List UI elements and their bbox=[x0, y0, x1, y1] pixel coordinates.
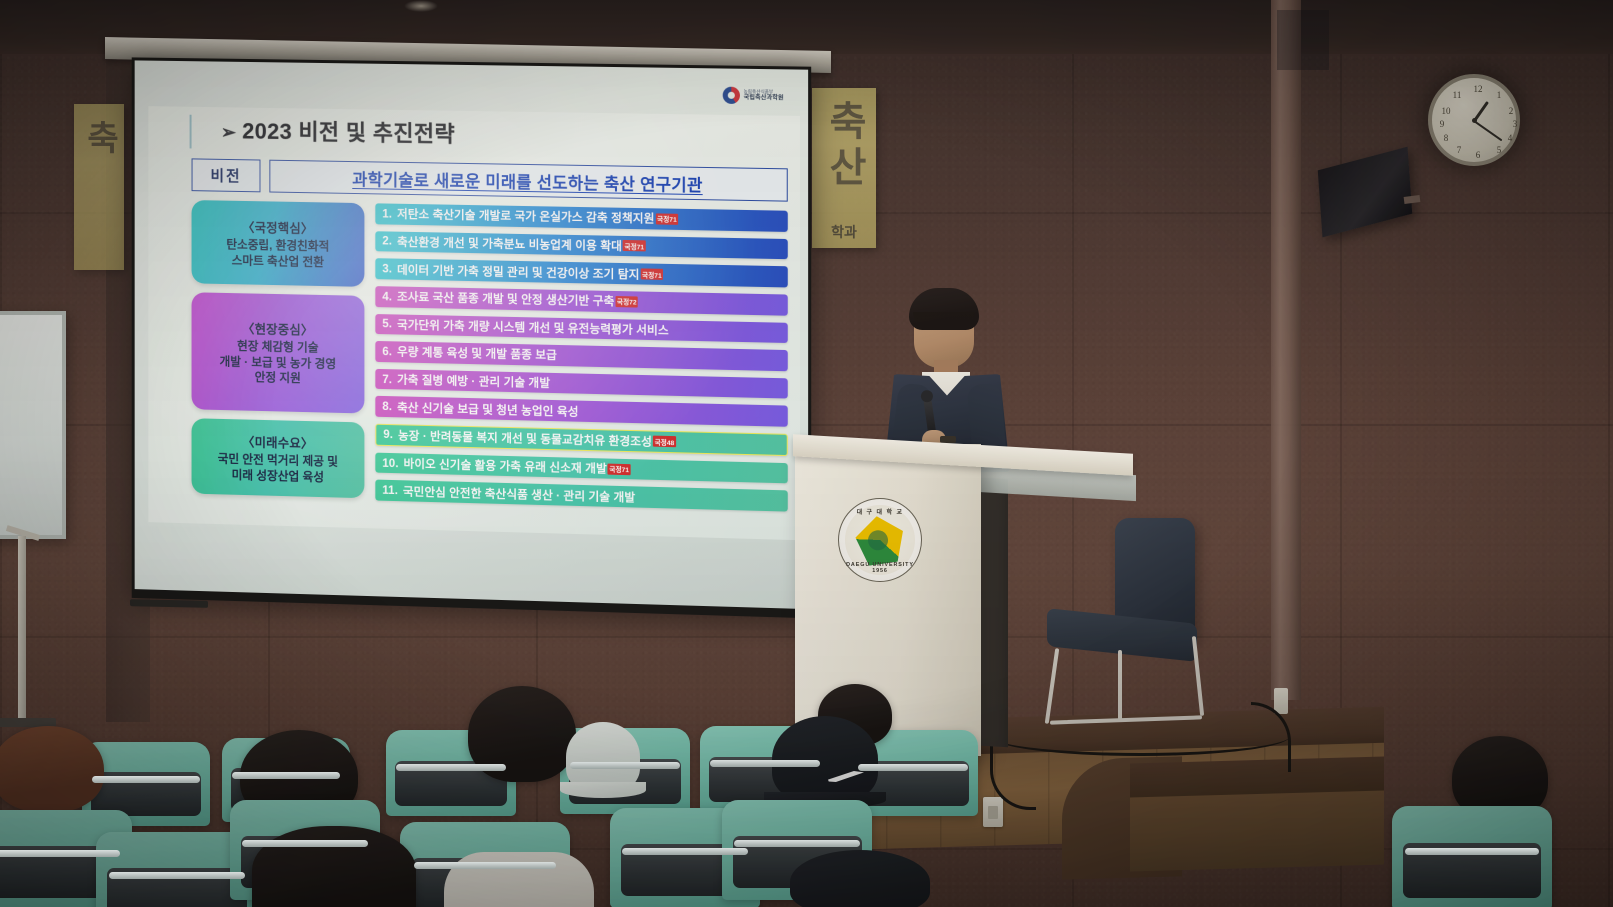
nike-swoosh-icon bbox=[828, 771, 864, 782]
clock-minute-hand bbox=[1473, 120, 1502, 141]
vision-statement: 과학기술로 새로운 미래를 선도하는 축산 연구기관 bbox=[269, 160, 787, 202]
initiative-text: 축산환경 개선 및 가축분뇨 비농업계 이용 확대 bbox=[397, 234, 622, 254]
strategy-category-1: 〈국정핵심〉탄소중립, 환경친화적스마트 축산업 전환 bbox=[192, 200, 365, 287]
projection-screen: 농림축산식품부 국립축산과학원 ➢2023 비전 및 추진전략 비전 과학기술로… bbox=[132, 57, 811, 618]
whiteboard bbox=[0, 311, 66, 539]
initiative-item-8: 8.축산 신기술 보급 및 청년 농업인 육성 bbox=[375, 396, 787, 427]
bullet-arrow-icon: ➢ bbox=[221, 122, 236, 142]
initiative-text: 농장 · 반려동물 복지 개선 및 동물교감치유 환경조성 bbox=[398, 427, 652, 449]
title-rule bbox=[190, 115, 192, 149]
lecture-hall-scene: 12 1 2 3 4 5 6 7 8 9 10 11 축 축산 학과 bbox=[0, 0, 1613, 907]
category-heading: 〈현장중심〉 bbox=[242, 318, 313, 338]
initiative-text: 바이오 신기술 활용 가축 유래 신소재 개발 bbox=[404, 455, 607, 476]
initiative-column: 1.저탄소 축산기술 개발로 국가 온실가스 감축 정책지원국정712.축산환경… bbox=[375, 203, 787, 511]
emblem-shield-icon bbox=[853, 513, 907, 567]
wall-banner-left: 축 bbox=[74, 104, 124, 270]
initiative-text: 가축 질병 예방 · 관리 기술 개발 bbox=[397, 371, 550, 391]
clock-center-pin bbox=[1472, 118, 1477, 123]
category-heading: 〈국정핵심〉 bbox=[242, 217, 313, 237]
initiative-item-3: 3.데이터 기반 가축 정밀 관리 및 건강이상 조기 탐지국정71 bbox=[375, 258, 787, 287]
strategy-category-2: 〈현장중심〉현장 체감형 기술개발 · 보급 및 농가 경영안정 지원 bbox=[192, 292, 365, 413]
audience-cap-black bbox=[790, 850, 930, 907]
initiative-item-4: 4.조사료 국산 품종 개발 및 안정 생산기반 구축국정72 bbox=[375, 286, 787, 315]
initiative-policy-tag: 국정71 bbox=[656, 213, 679, 224]
taegeuk-logo-icon bbox=[722, 87, 739, 104]
category-column: 〈국정핵심〉탄소중립, 환경친화적스마트 축산업 전환〈현장중심〉현장 체감형 … bbox=[192, 200, 365, 500]
university-emblem: 대 구 대 학 교 DAEGU UNIVERSITY 1956 bbox=[838, 498, 922, 582]
vision-row: 비전 과학기술로 새로운 미래를 선도하는 축산 연구기관 bbox=[192, 158, 788, 201]
initiative-text: 조사료 국산 품종 개발 및 안정 생산기반 구축 bbox=[397, 289, 614, 310]
initiative-text: 축산 신기술 보급 및 청년 농업인 육성 bbox=[397, 399, 578, 419]
category-heading: 〈미래수요〉 bbox=[242, 431, 313, 452]
initiative-policy-tag: 국정71 bbox=[623, 240, 646, 251]
initiative-number: 8. bbox=[382, 400, 392, 413]
audience-seat bbox=[1392, 806, 1552, 907]
initiative-number: 7. bbox=[382, 373, 392, 386]
initiative-policy-tag: 국정72 bbox=[615, 296, 638, 308]
banner-right-glyph: 축산 bbox=[815, 100, 873, 192]
emblem-korean-name: 대 구 대 학 교 bbox=[839, 507, 921, 516]
initiative-item-11: 11.국민안심 안전한 축산식품 생산 · 관리 기술 개발 bbox=[375, 480, 787, 512]
initiative-number: 5. bbox=[382, 317, 392, 330]
banner-left-glyph: 축 bbox=[75, 120, 124, 160]
initiative-item-1: 1.저탄소 축산기술 개발로 국가 온실가스 감축 정책지원국정71 bbox=[375, 203, 787, 231]
initiative-text: 국민안심 안전한 축산식품 생산 · 관리 기술 개발 bbox=[403, 483, 635, 505]
banner-right-label: 학과 bbox=[812, 222, 876, 242]
audience-head bbox=[252, 826, 416, 907]
audience-cap-white bbox=[566, 722, 640, 792]
initiative-policy-tag: 국정71 bbox=[608, 463, 631, 475]
wall-vent bbox=[1277, 10, 1329, 70]
initiative-number: 10. bbox=[382, 456, 398, 469]
logo-institute-name: 국립축산과학원 bbox=[744, 95, 784, 102]
category-description: 현장 체감형 기술개발 · 보급 및 농가 경영안정 지원 bbox=[220, 338, 337, 388]
initiative-number: 11. bbox=[382, 484, 398, 497]
initiative-number: 2. bbox=[382, 235, 392, 248]
initiative-number: 4. bbox=[382, 290, 392, 303]
initiative-text: 국가단위 가축 개량 시스템 개선 및 유전능력평가 서비스 bbox=[397, 316, 669, 338]
wall-clock: 12 1 2 3 4 5 6 7 8 9 10 11 bbox=[1428, 74, 1520, 166]
audience-cap-black bbox=[772, 716, 878, 802]
audience-shoulder bbox=[444, 852, 594, 907]
initiative-text: 저탄소 축산기술 개발로 국가 온실가스 감축 정책지원 bbox=[397, 206, 654, 227]
initiative-policy-tag: 국정71 bbox=[641, 268, 664, 280]
initiative-number: 6. bbox=[382, 345, 392, 358]
initiative-item-6: 6.우량 계통 육성 및 개발 품종 보급 bbox=[375, 341, 787, 371]
initiative-item-10: 10.바이오 신기술 활용 가축 유래 신소재 개발국정71 bbox=[375, 452, 787, 483]
audience-head bbox=[0, 726, 104, 812]
initiative-item-7: 7.가축 질병 예방 · 관리 기술 개발 bbox=[375, 369, 787, 399]
right-pillar bbox=[1271, 0, 1301, 700]
presentation-slide: 농림축산식품부 국립축산과학원 ➢2023 비전 및 추진전략 비전 과학기술로… bbox=[148, 106, 800, 540]
presenter-hair bbox=[909, 288, 979, 330]
initiative-item-9: 9.농장 · 반려동물 복지 개선 및 동물교감치유 환경조성국정48 bbox=[375, 424, 787, 456]
ceiling-light bbox=[404, 0, 438, 12]
initiative-number: 3. bbox=[382, 262, 392, 275]
initiative-item-5: 5.국가단위 가축 개량 시스템 개선 및 유전능력평가 서비스 bbox=[375, 314, 787, 344]
agency-logo: 농림축산식품부 국립축산과학원 bbox=[722, 87, 783, 105]
vision-label: 비전 bbox=[192, 158, 261, 192]
category-description: 국민 안전 먹거리 제공 및미래 성장산업 육성 bbox=[218, 451, 338, 486]
initiative-number: 9. bbox=[383, 428, 393, 441]
whiteboard-leg bbox=[18, 536, 26, 724]
slide-title-text: 2023 비전 및 추진전략 bbox=[242, 119, 455, 147]
initiative-text: 데이터 기반 가축 정밀 관리 및 건강이상 조기 탐지 bbox=[397, 261, 639, 282]
chair-leg bbox=[1118, 650, 1122, 720]
initiative-text: 우량 계통 육성 및 개발 품종 보급 bbox=[397, 344, 557, 364]
power-outlet bbox=[983, 797, 1003, 827]
emblem-english-name: DAEGU UNIVERSITY 1956 bbox=[839, 562, 921, 574]
category-description: 탄소중립, 환경친화적스마트 축산업 전환 bbox=[226, 237, 329, 270]
initiative-item-2: 2.축산환경 개선 및 가축분뇨 비농업계 이용 확대국정71 bbox=[375, 231, 787, 260]
stage-step-front bbox=[1130, 790, 1384, 871]
slide-title: ➢2023 비전 및 추진전략 bbox=[221, 113, 455, 149]
strategy-grid: 〈국정핵심〉탄소중립, 환경친화적스마트 축산업 전환〈현장중심〉현장 체감형 … bbox=[192, 200, 788, 512]
strategy-category-3: 〈미래수요〉국민 안전 먹거리 제공 및미래 성장산업 육성 bbox=[192, 418, 365, 498]
initiative-policy-tag: 국정48 bbox=[653, 436, 676, 448]
initiative-number: 1. bbox=[382, 207, 392, 220]
